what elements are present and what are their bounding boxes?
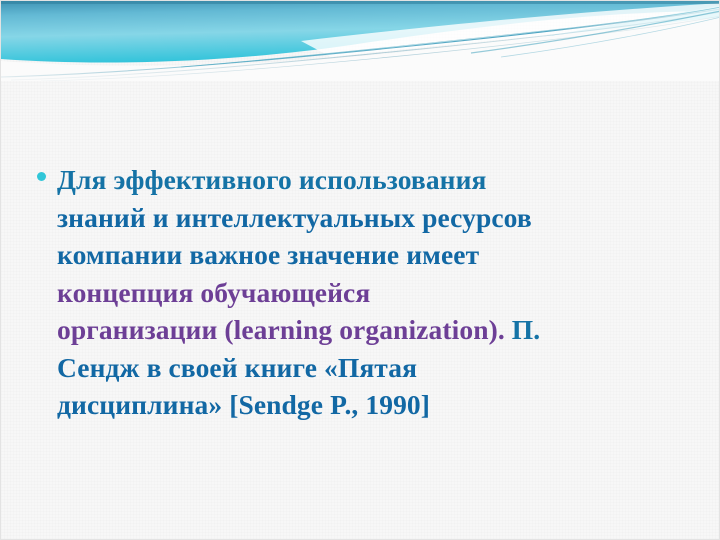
bullet-dot-icon [37, 172, 46, 181]
bullet-list-item: Для эффективного использования знаний и … [37, 161, 697, 424]
body-line-7: дисциплина» [Sendge P., 1990] [57, 386, 697, 424]
bullet-paragraph: Для эффективного использования знаний и … [57, 161, 697, 424]
body-line-6: Сендж в своей книге «Пятая [57, 349, 697, 387]
body-line-2: знаний и интеллектуальных ресурсов [57, 199, 697, 237]
presentation-slide: Для эффективного использования знаний и … [0, 0, 720, 540]
body-line-5-initial: П. [512, 314, 540, 345]
body-line-1: Для эффективного использования [57, 161, 697, 199]
body-line-5: организации (learning organization). П. [57, 311, 697, 349]
body-line-5-main: организации (learning organization). [57, 314, 512, 345]
body-line-3: компании важное значение имеет [57, 236, 697, 274]
bullet-point-icon [37, 161, 57, 181]
body-line-4: концепция обучающейся [57, 274, 697, 312]
slide-content: Для эффективного использования знаний и … [1, 1, 720, 540]
